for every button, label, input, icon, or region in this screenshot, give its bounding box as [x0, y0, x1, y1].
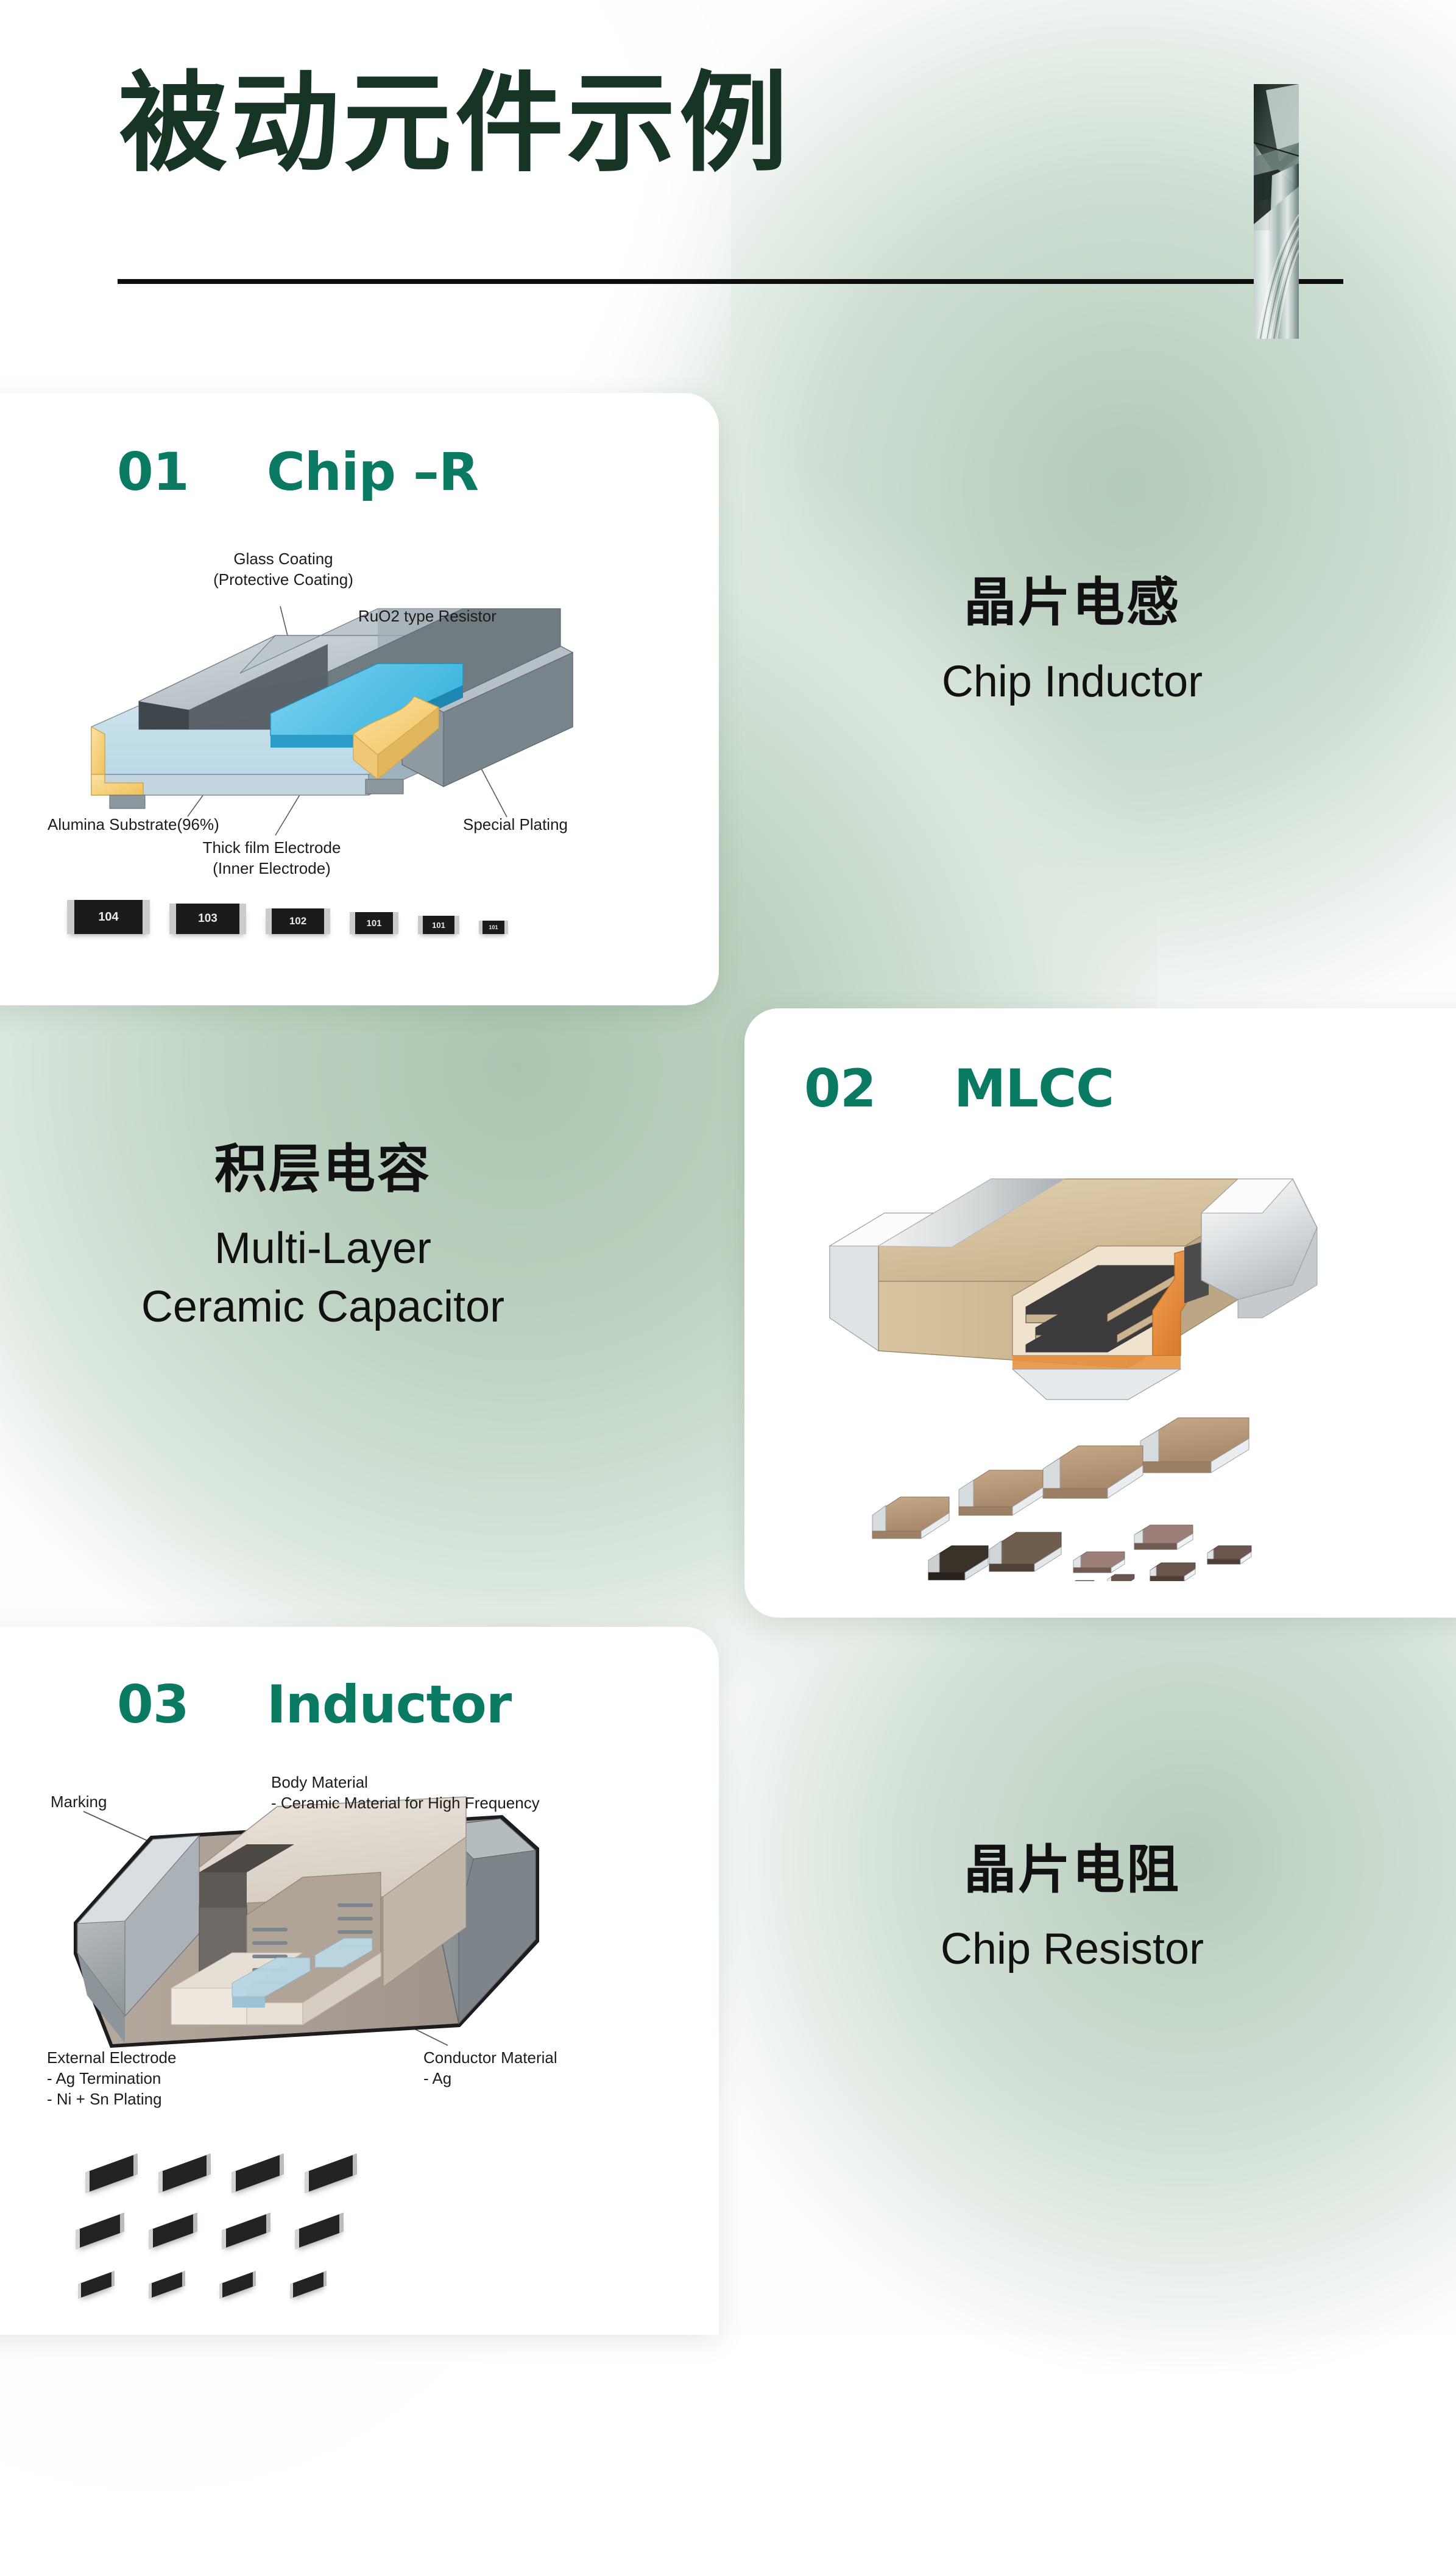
chip-resistor-sample-row: 104 103 102 101 101 101 [67, 900, 508, 934]
abstract-architecture-photo-strip-icon [1254, 84, 1299, 339]
card-mlcc[interactable]: 02 MLCC [744, 1008, 1456, 1618]
caption-chinese: 晶片电阻 [871, 1840, 1273, 1900]
diagram-label-external-electrode: External Electrode - Ag Termination - Ni… [47, 2048, 176, 2109]
mlcc-cutaway-diagram [811, 1155, 1335, 1581]
sample-inductor-chip [231, 2153, 284, 2193]
diagram-label-ruo2-resistor: RuO2 type Resistor [358, 606, 497, 627]
card-header-mlcc: 02 MLCC [804, 1058, 1114, 1119]
sample-inductor-chip [85, 2153, 138, 2193]
sample-chip: 101 [418, 916, 459, 934]
card-title: MLCC [954, 1058, 1114, 1119]
sample-inductor-chip [78, 2271, 115, 2299]
diagram-label-special-plating: Special Plating [463, 815, 568, 835]
card-header-inductor: 03 Inductor [117, 1674, 511, 1735]
chip-inductor-sample-grid [61, 2163, 451, 2315]
caption-english-line1: Multi-Layer [104, 1220, 542, 1276]
sample-inductor-chip [219, 2271, 256, 2299]
diagram-label-alumina-substrate: Alumina Substrate(96%) [48, 815, 219, 835]
sample-chip: 104 [67, 900, 150, 934]
sample-chip: 103 [169, 904, 246, 934]
diagram-label-thick-film-electrode: Thick film Electrode (Inner Electrode) [186, 838, 357, 879]
card-title: Chip –R [267, 442, 479, 503]
caption-chinese: 积层电容 [104, 1139, 542, 1200]
sample-inductor-chip [295, 2212, 344, 2249]
card-number: 02 [804, 1058, 876, 1119]
diagram-label-glass-coating: Glass Coating (Protective Coating) [207, 549, 359, 590]
caption-chip-resistor: 晶片电阻 Chip Resistor [871, 1840, 1273, 1977]
caption-chinese: 晶片电感 [871, 573, 1273, 633]
caption-chip-inductor: 晶片电感 Chip Inductor [871, 573, 1273, 710]
sample-inductor-chip [222, 2212, 270, 2249]
chip-inductor-cutaway-diagram: Body Material - Ceramic Material for Hig… [40, 1770, 649, 2075]
caption-english: Chip Resistor [871, 1921, 1273, 1977]
card-chip-resistor[interactable]: 01 Chip –R [0, 393, 719, 1005]
card-title: Inductor [267, 1674, 512, 1735]
sample-inductor-chip [149, 2212, 197, 2249]
caption-english-line2: Ceramic Capacitor [104, 1279, 542, 1335]
sample-chip: 101 [350, 912, 398, 934]
card-number: 03 [117, 1674, 189, 1735]
sample-inductor-chip [149, 2271, 185, 2299]
sample-inductor-chip [158, 2153, 211, 2193]
page-title: 被动元件示例 [119, 67, 791, 181]
sample-inductor-chip [76, 2212, 124, 2249]
caption-mlcc: 积层电容 Multi-Layer Ceramic Capacitor [104, 1139, 542, 1335]
chip-resistor-cutaway-diagram: Glass Coating (Protective Coating) RuO2 … [37, 533, 646, 874]
sample-inductor-chip [290, 2271, 327, 2299]
sample-chip: 101 [479, 921, 508, 934]
diagram-label-body-material: Body Material - Ceramic Material for Hig… [271, 1772, 624, 1814]
card-inductor[interactable]: 03 Inductor [0, 1627, 719, 2335]
diagram-label-conductor-material: Conductor Material - Ag [423, 2048, 557, 2089]
sample-chip: 102 [266, 908, 330, 934]
title-divider-rule [118, 279, 1343, 284]
card-number: 01 [117, 442, 189, 503]
diagram-label-marking: Marking [51, 1792, 107, 1813]
caption-english: Chip Inductor [871, 654, 1273, 710]
sample-inductor-chip [305, 2153, 357, 2193]
card-header-chip-resistor: 01 Chip –R [117, 442, 478, 503]
